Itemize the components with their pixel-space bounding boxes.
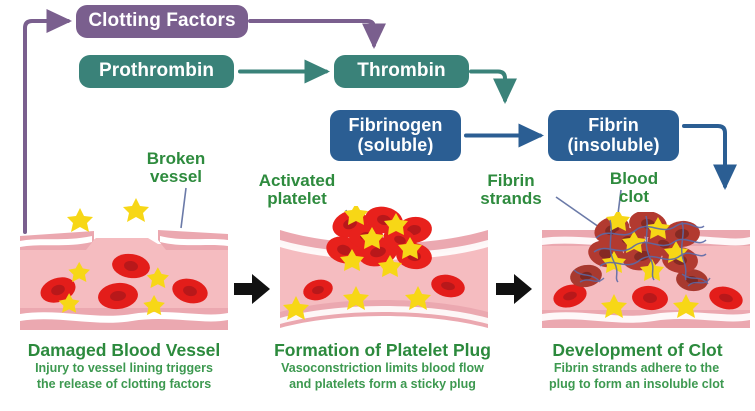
subtitle-line2: the release of clotting factors (37, 377, 211, 391)
node-label-line1: Fibrin (567, 116, 659, 135)
callout-line2: strands (480, 189, 541, 208)
step-arrow-2 (494, 272, 534, 306)
subtitle-line1: Vasoconstriction limits blood flow (281, 361, 484, 375)
cascade-node-thrombin[interactable]: Thrombin (334, 55, 469, 88)
step-arrow-1 (232, 272, 272, 306)
node-label-line2: (insoluble) (567, 136, 659, 155)
callout-line1: Fibrin (487, 171, 534, 190)
callout-line1: Broken (147, 149, 206, 168)
callout-broken-vessel: Broken vessel (133, 150, 219, 187)
node-label: Clotting Factors (88, 11, 235, 31)
illustration-damaged-blood-vessel (18, 228, 230, 332)
callout-activated-platelet: Activated platelet (243, 172, 351, 209)
callout-line1: Activated (259, 171, 336, 190)
subtitle-line1: Injury to vessel lining triggers (35, 361, 213, 375)
subtitle-line1: Fibrin strands adhere to the (554, 361, 719, 375)
cascade-node-clotting-factors[interactable]: Clotting Factors (76, 5, 248, 38)
node-label-line2: (soluble) (349, 136, 443, 155)
wire-fibrin-to-blood-clot (684, 126, 725, 186)
wire-clotting-factors-to-thrombin (250, 21, 374, 45)
cascade-node-prothrombin[interactable]: Prothrombin (79, 55, 234, 88)
illustration-blood-clot-cluster (584, 212, 710, 284)
panel-title-formation-of-platelet-plug: Formation of Platelet Plug (255, 340, 510, 361)
callout-blood-clot: Blood clot (598, 170, 670, 207)
wire-thrombin-to-fibrin-reaction (471, 72, 505, 101)
cascade-node-fibrin[interactable]: Fibrin (insoluble) (548, 110, 679, 161)
callout-line1: Blood (610, 169, 658, 188)
node-label: Prothrombin (99, 61, 214, 81)
callout-line2: clot (619, 187, 649, 206)
node-label: Thrombin (357, 61, 445, 81)
cascade-node-fibrinogen[interactable]: Fibrinogen (soluble) (330, 110, 461, 161)
callout-fibrin-strands: Fibrin strands (470, 172, 552, 209)
illustration-escaping-platelets (60, 196, 190, 236)
subtitle-line2: and platelets form a sticky plug (289, 377, 476, 391)
node-label-line1: Fibrinogen (349, 116, 443, 135)
illustration-platelet-plug-cluster (320, 206, 442, 282)
diagram-canvas: Clotting Factors Prothrombin Thrombin Fi… (0, 0, 755, 411)
clot-red-cells (585, 212, 701, 275)
panel-subtitle-development-of-clot: Fibrin strands adhere to the plug to for… (518, 361, 755, 393)
subtitle-line2: plug to form an insoluble clot (549, 377, 724, 391)
panel-subtitle-damaged-blood-vessel: Injury to vessel lining triggers the rel… (0, 361, 248, 393)
panel-title-damaged-blood-vessel: Damaged Blood Vessel (0, 340, 248, 361)
panel-title-development-of-clot: Development of Clot (520, 340, 755, 361)
panel-subtitle-formation-of-platelet-plug: Vasoconstriction limits blood flow and p… (250, 361, 515, 393)
callout-line2: vessel (150, 167, 202, 186)
callout-line2: platelet (267, 189, 327, 208)
